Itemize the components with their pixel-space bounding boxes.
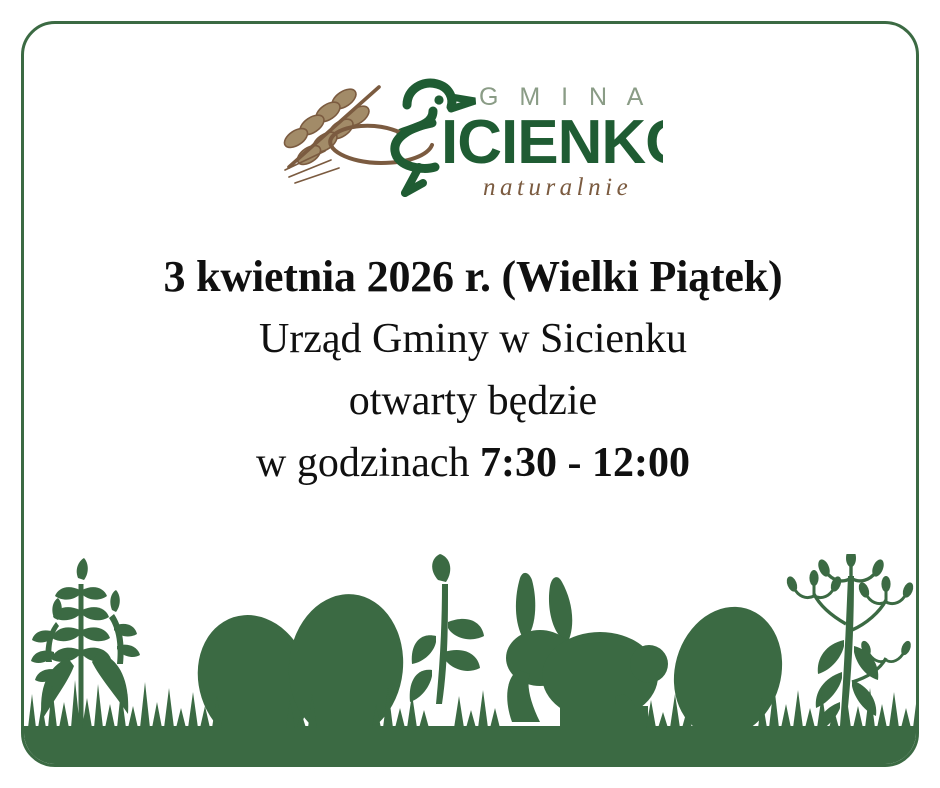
logo-svg: G M I N A ICIENKO naturalnie	[283, 71, 663, 203]
grass-tufts-icon	[28, 680, 919, 728]
scenery-svg	[24, 554, 919, 764]
easter-scenery	[24, 554, 919, 764]
opening-hours-value: 7:30 - 12:00	[480, 440, 690, 486]
poster-card: G M I N A ICIENKO naturalnie 3 kwietnia …	[21, 21, 919, 767]
bird-eye-icon	[434, 95, 443, 104]
logo-gmina-text: G M I N A	[479, 83, 650, 111]
tulip-plant-icon	[410, 554, 484, 704]
announcement-office-line: Urząd Gminy w Sicienku	[24, 308, 919, 370]
hours-prefix: w godzinach	[256, 440, 480, 486]
poster-canvas: G M I N A ICIENKO naturalnie 3 kwietnia …	[0, 0, 940, 788]
announcement-hours-line: w godzinach 7:30 - 12:00	[24, 432, 919, 494]
wheat-icon	[283, 85, 379, 183]
logo-sicienko-text: ICIENKO	[441, 108, 663, 177]
announcement-text: 3 kwietnia 2026 r. (Wielki Piątek) Urząd…	[24, 246, 919, 494]
announcement-date-line: 3 kwietnia 2026 r. (Wielki Piątek)	[24, 246, 919, 308]
logo-tagline-text: naturalnie	[483, 174, 632, 201]
easter-bunny-icon	[506, 573, 668, 726]
fern-plant-left-icon	[31, 558, 140, 732]
announcement-open-line: otwarty będzie	[24, 370, 919, 432]
gmina-sicienko-logo: G M I N A ICIENKO naturalnie	[24, 62, 919, 212]
